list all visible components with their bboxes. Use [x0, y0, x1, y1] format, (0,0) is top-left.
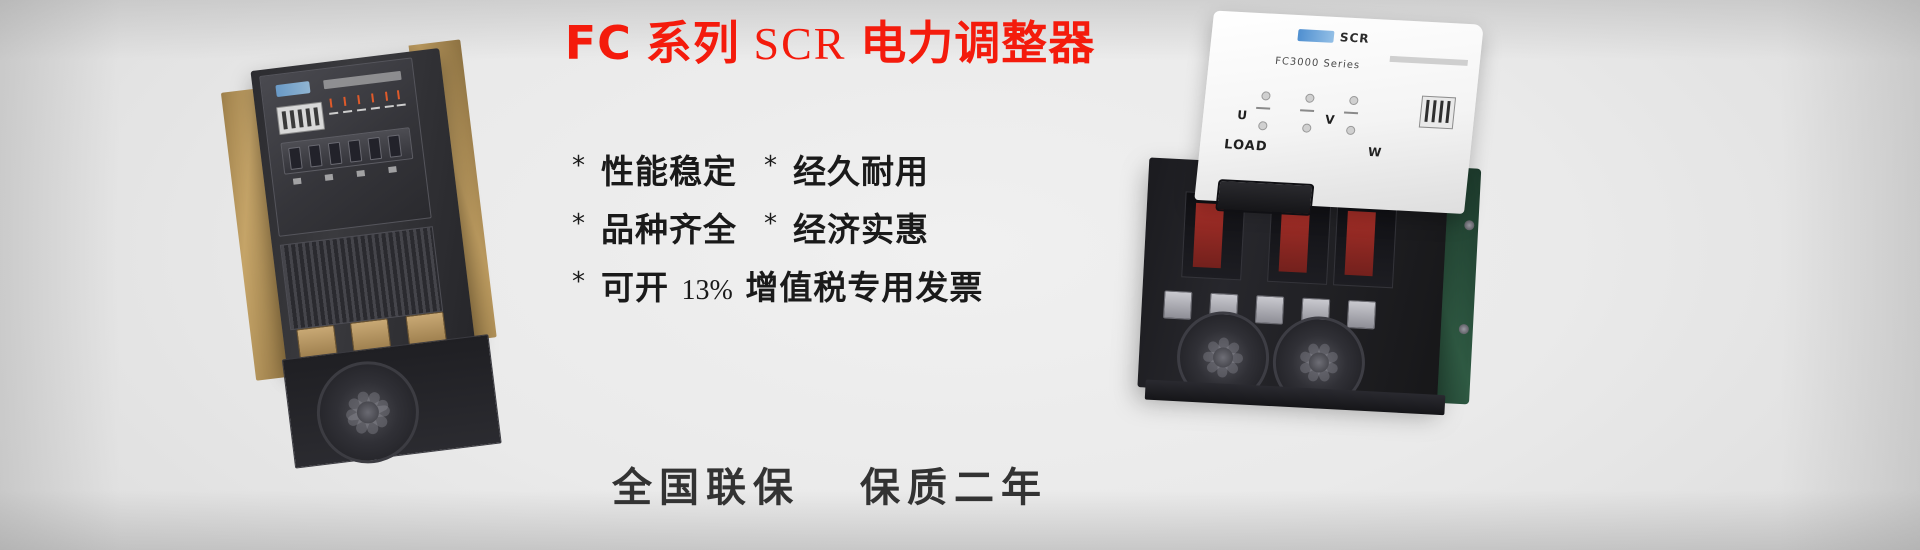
- invoice-text: 可开 13% 增值税专用发票: [601, 261, 983, 309]
- left-unit-label-grid: [325, 89, 408, 129]
- tagline-part-two: 保质二年: [860, 465, 1048, 510]
- feature-item: * 性能稳定: [520, 145, 752, 193]
- bullet-star-icon: *: [764, 211, 777, 237]
- right-unit-top-cover: SCR FC3000 Series LOAD U V W: [1194, 11, 1484, 214]
- bullet-star-icon: *: [572, 211, 585, 237]
- feature-item-invoice: * 可开 13% 增值税专用发票: [520, 261, 983, 309]
- promo-banner: FC 系列 SCR 电力调整器 * 性能稳定 * 经久耐用 * 品种齐全: [0, 0, 1920, 550]
- warranty-tagline: 全国联保 保质二年: [520, 455, 1140, 513]
- feature-row: * 品种齐全 * 经济实惠: [520, 198, 1140, 256]
- text-column: FC 系列 SCR 电力调整器 * 性能稳定 * 经久耐用 * 品种齐全: [520, 0, 1140, 550]
- feature-label: 经久耐用: [793, 145, 929, 193]
- product-image-left: [212, 29, 561, 482]
- brand-logo-icon: [275, 81, 310, 97]
- invoice-percent: 13%: [682, 275, 733, 306]
- vignette-left: [0, 0, 120, 550]
- page-title: FC 系列 SCR 电力调整器: [520, 8, 1140, 78]
- brand-logo-icon: [1297, 29, 1334, 43]
- feature-row: * 性能稳定 * 经久耐用: [520, 140, 1140, 198]
- right-unit-series-label: FC3000 Series: [1275, 56, 1361, 71]
- tagline-part-one: 全国联保: [612, 465, 800, 510]
- feature-label: 经济实惠: [793, 203, 929, 251]
- feature-item: * 经久耐用: [752, 145, 929, 193]
- dip-switch-block: [276, 102, 325, 135]
- right-unit-scr-label: SCR: [1339, 30, 1370, 45]
- bullet-star-icon: *: [572, 269, 585, 295]
- vignette-right: [1780, 0, 1920, 550]
- headline-fc: FC: [565, 16, 632, 70]
- feature-item: * 品种齐全: [520, 203, 752, 251]
- feature-item: * 经济实惠: [752, 203, 929, 251]
- right-unit-load-label: LOAD: [1223, 137, 1268, 154]
- feature-label: 性能稳定: [601, 145, 737, 193]
- feature-label: 品种齐全: [601, 203, 737, 251]
- phase-label-v: V: [1324, 113, 1335, 127]
- right-unit-window: [1333, 199, 1397, 288]
- dip-switch-block: [1419, 96, 1456, 130]
- product-image-right: SCR FC3000 Series LOAD U V W: [1129, 7, 1570, 448]
- right-unit-cap-bar: [1390, 56, 1469, 66]
- bullet-star-icon: *: [764, 153, 777, 179]
- right-unit-handle: [1215, 179, 1314, 216]
- invoice-suffix: 增值税专用发票: [745, 268, 983, 307]
- bullet-star-icon: *: [572, 153, 585, 179]
- feature-list: * 性能稳定 * 经久耐用 * 品种齐全 * 经济实惠: [520, 140, 1140, 314]
- feature-row-invoice: * 可开 13% 增值税专用发票: [520, 256, 1140, 314]
- headline-scr: SCR: [754, 18, 847, 69]
- headline-series: 系列: [646, 16, 740, 70]
- phase-label-u: U: [1237, 108, 1248, 122]
- headline-product: 电力调整器: [860, 16, 1095, 70]
- left-unit-model-label: [323, 71, 402, 89]
- phase-label-w: W: [1367, 145, 1382, 160]
- invoice-prefix: 可开: [601, 268, 669, 307]
- left-unit-faceplate: [259, 57, 432, 237]
